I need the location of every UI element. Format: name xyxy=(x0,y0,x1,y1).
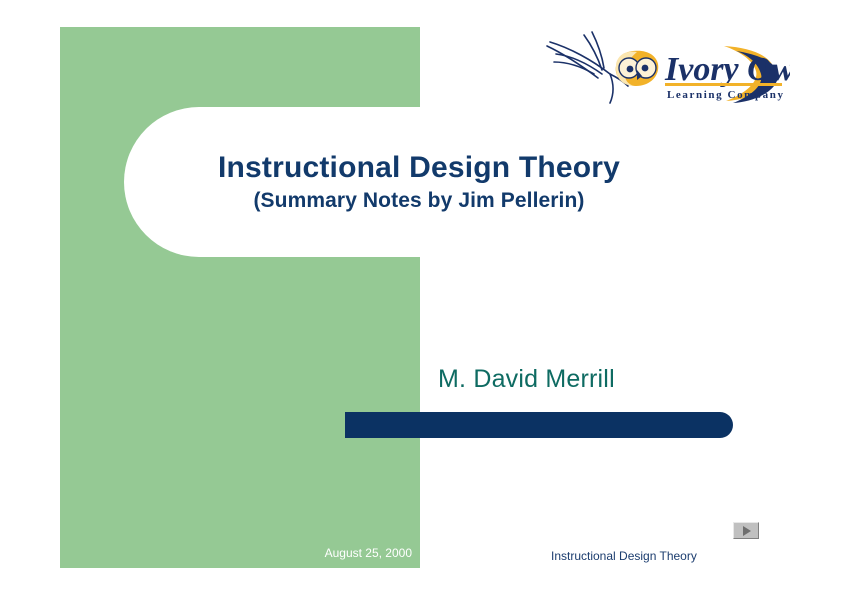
accent-bar xyxy=(345,412,733,438)
presentation-slide: Ivory Owl Learning Company Instructional… xyxy=(0,0,842,595)
flying-owl-icon: Ivory Owl Learning Company xyxy=(540,26,790,104)
play-triangle-icon xyxy=(743,526,751,536)
slide-date: August 25, 2000 xyxy=(200,546,412,560)
title-plate-shape xyxy=(124,107,724,257)
svg-text:Learning Company: Learning Company xyxy=(667,89,785,101)
slide-footer: Instructional Design Theory xyxy=(551,549,697,563)
author-name: M. David Merrill xyxy=(438,365,615,394)
next-slide-button[interactable] xyxy=(733,522,759,539)
svg-text:Ivory Owl: Ivory Owl xyxy=(664,51,790,88)
ivory-owl-logo[interactable]: Ivory Owl Learning Company xyxy=(540,26,790,104)
